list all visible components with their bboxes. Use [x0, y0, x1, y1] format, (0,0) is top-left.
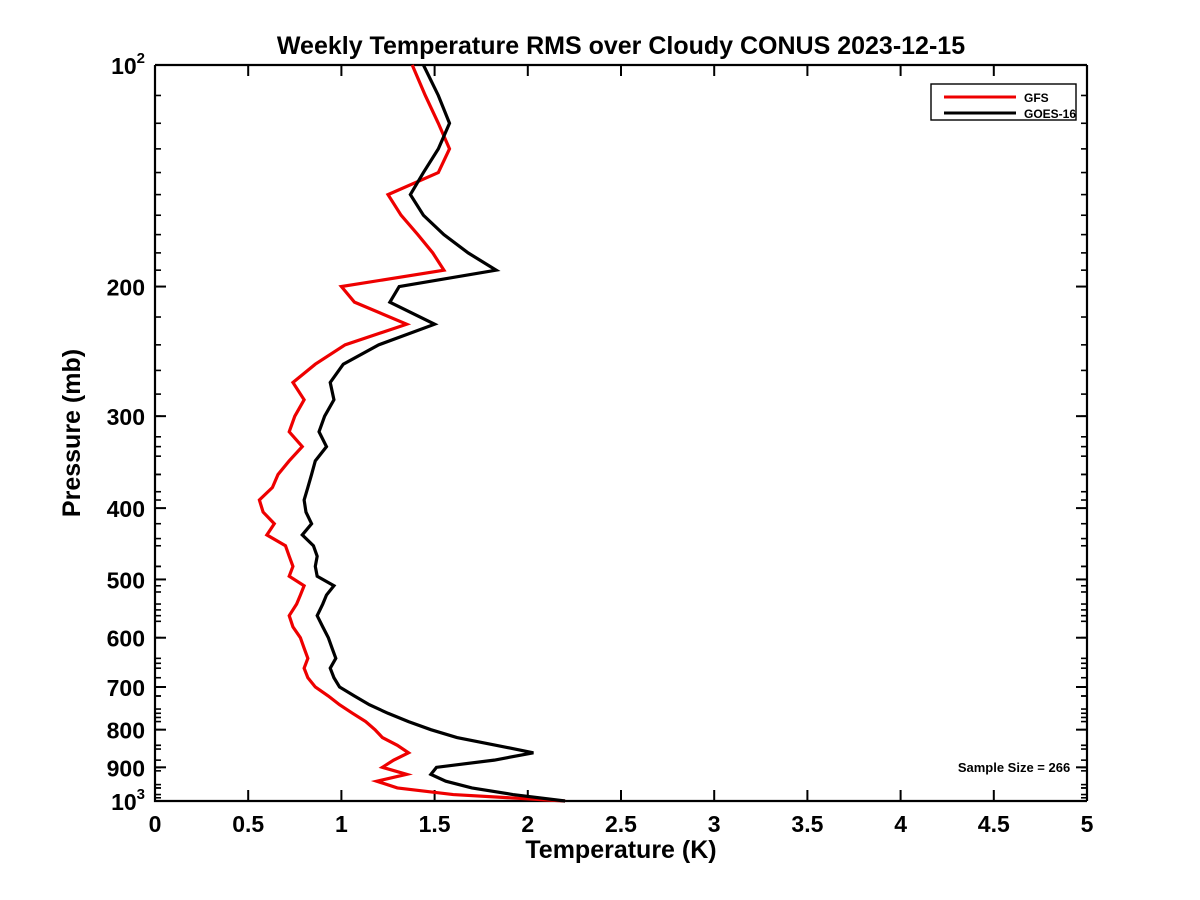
y-axis-label: Pressure (mb)	[58, 349, 86, 517]
chart-legend[interactable]: GFSGOES-16	[931, 84, 1076, 121]
x-tick-label: 2	[521, 811, 534, 837]
y-tick-label: 700	[107, 675, 145, 701]
y-tick-label: 400	[107, 496, 145, 522]
x-tick-label: 4	[894, 811, 907, 837]
x-tick-label: 4.5	[978, 811, 1010, 837]
x-tick-label: 1	[335, 811, 348, 837]
y-tick-label: 600	[107, 626, 145, 652]
plot-canvas: Weekly Temperature RMS over Cloudy CONUS…	[0, 0, 1200, 900]
x-tick-label: 5	[1081, 811, 1094, 837]
legend-label-goes-16: GOES-16	[1024, 107, 1076, 121]
legend-label-gfs: GFS	[1024, 91, 1049, 105]
plot-area-background	[155, 65, 1087, 801]
x-tick-label: 0.5	[232, 811, 264, 837]
x-tick-label: 2.5	[605, 811, 637, 837]
chart-figure: Weekly Temperature RMS over Cloudy CONUS…	[0, 0, 1200, 900]
x-tick-label: 3	[708, 811, 721, 837]
y-tick-label: 800	[107, 718, 145, 744]
y-tick-label: 300	[107, 404, 145, 430]
x-tick-label: 3.5	[791, 811, 823, 837]
y-tick-label: 500	[107, 567, 145, 593]
x-axis-label: Temperature (K)	[525, 836, 716, 864]
y-tick-label: 900	[107, 755, 145, 781]
axes	[155, 65, 1087, 801]
chart-title: Weekly Temperature RMS over Cloudy CONUS…	[277, 32, 965, 60]
y-tick-label: 200	[107, 275, 145, 301]
x-tick-label: 1.5	[419, 811, 451, 837]
sample-size-annotation: Sample Size = 266	[958, 760, 1070, 775]
x-tick-label: 0	[149, 811, 162, 837]
